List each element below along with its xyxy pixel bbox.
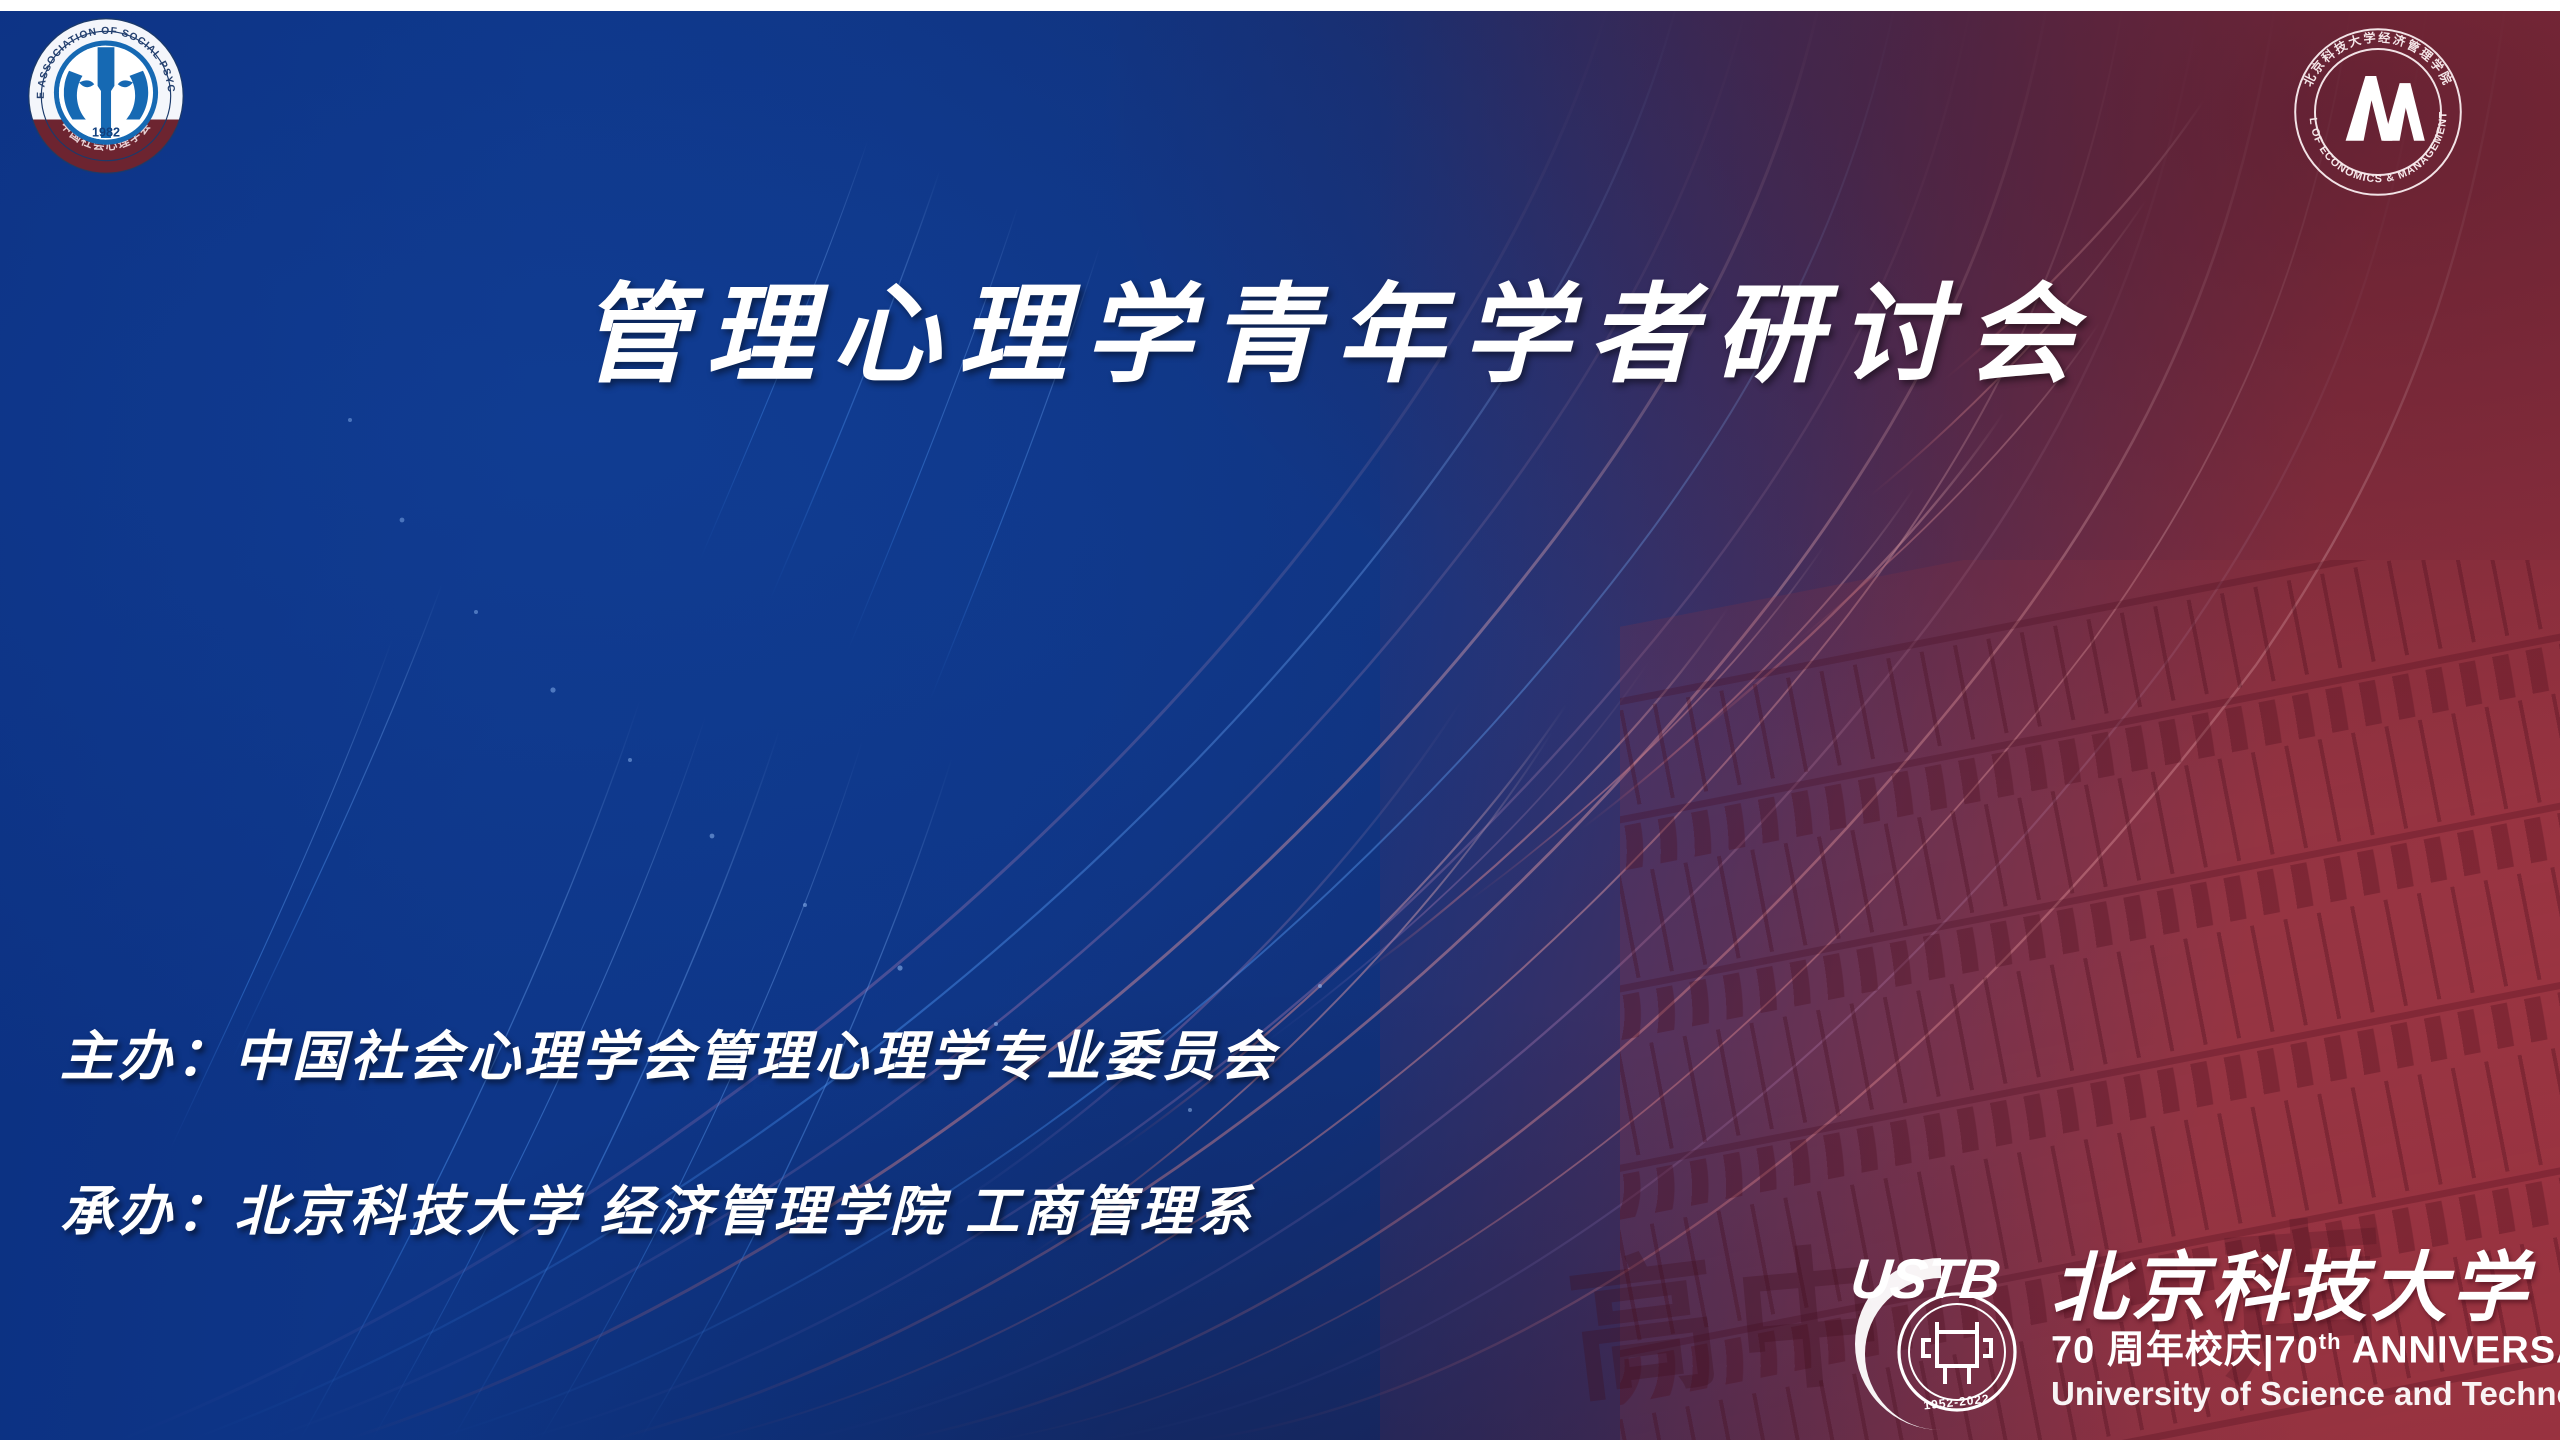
organizer-line-cohost: 承办：北京科技大学 经济管理学院 工商管理系 xyxy=(60,1167,1278,1246)
page-title: 管理心理学青年学者研讨会 xyxy=(580,248,2000,404)
school-of-economics-and-management-ustb-logo: 北京科技大学经济管理学院 SCHOOL OF ECONOMICS & MANAG… xyxy=(2288,22,2468,202)
ustb-anniversary-en-number: 70 xyxy=(2274,1330,2318,1372)
ustb-english-name: University of Science and Technology Bei… xyxy=(2051,1377,2560,1410)
watermark-glyph-1: 高 xyxy=(1561,1246,1728,1413)
top-white-strip xyxy=(0,0,2560,11)
ustb-wordmark: 北京科技大学 70 周年校庆|70th ANNIVERSARY Universi… xyxy=(2051,1248,2560,1410)
ustb-seal-mark: 1952-2022 USTB xyxy=(1845,1248,2045,1438)
chinese-association-of-social-psychology-logo: CHINESE ASSOCIATION OF SOCIAL PSYCHOLOGY… xyxy=(22,12,190,180)
organizer-block: 主办：中国社会心理学会管理心理学专业委员会 承办：北京科技大学 经济管理学院 工… xyxy=(60,1012,1278,1246)
conference-poster: 高 中 声 CHINESE ASSOCIATION OF SOCIAL PSYC… xyxy=(0,0,2560,1440)
ustb-chinese-name: 北京科技大学 xyxy=(2051,1254,2560,1325)
casp-year-text: 1982 xyxy=(92,125,120,139)
ustb-anniversary-separator: | xyxy=(2263,1330,2275,1372)
ustb-anniversary-line: 70 周年校庆|70th ANNIVERSARY xyxy=(2051,1331,2560,1370)
ustb-anniversary-en-superscript: th xyxy=(2319,1329,2342,1354)
ustb-70th-anniversary-logo: 1952-2022 USTB 北京科技大学 70 周年校庆|70th ANNIV… xyxy=(1845,1248,2560,1440)
organizer-line-host: 主办：中国社会心理学会管理心理学专业委员会 xyxy=(60,1012,1278,1091)
ustb-anniversary-cn: 70 周年校庆 xyxy=(2051,1330,2263,1372)
sem-mountain-mark xyxy=(2346,76,2425,141)
ustb-anniversary-en-word: ANNIVERSARY xyxy=(2352,1330,2560,1372)
ustb-abbr-text: USTB xyxy=(1848,1246,2003,1311)
